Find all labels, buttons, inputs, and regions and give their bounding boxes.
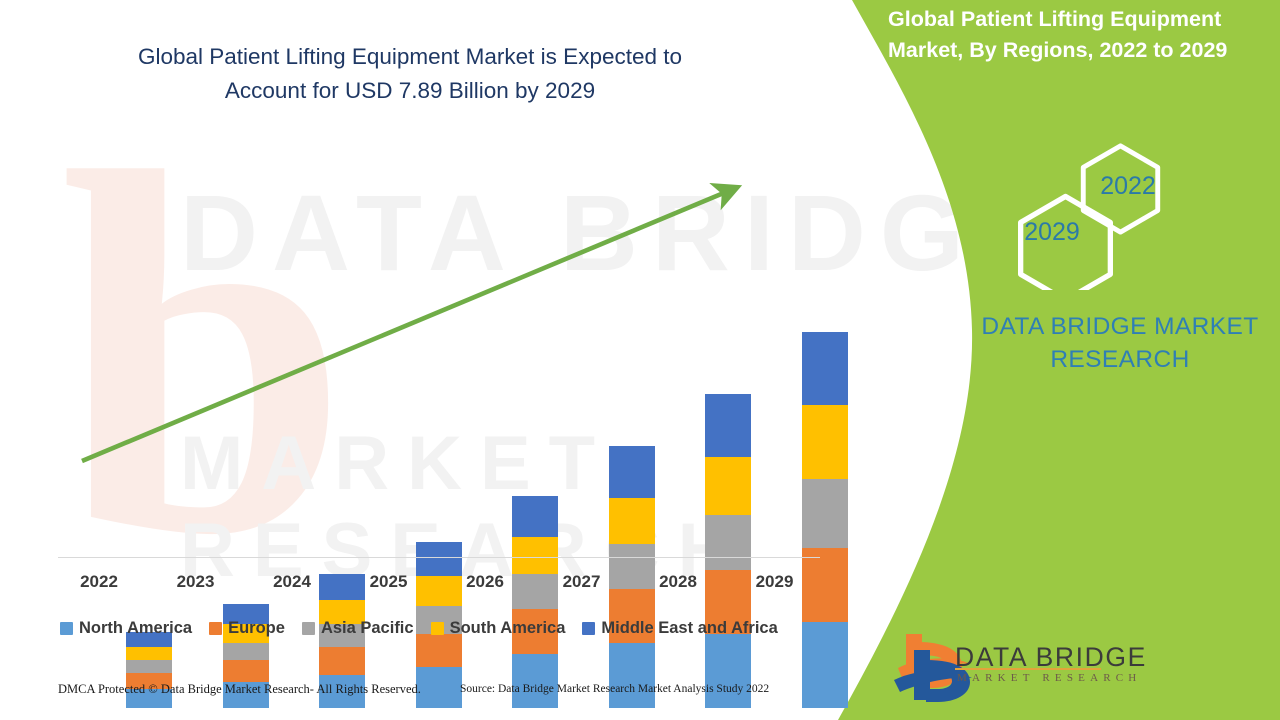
chart-x-label: 2028 <box>643 572 713 592</box>
chart-bar-segment <box>705 457 751 515</box>
legend-swatch <box>60 622 73 635</box>
chart-bar-segment <box>609 446 655 498</box>
legend-label: Europe <box>228 619 285 638</box>
footer-source: Source: Data Bridge Market Research Mark… <box>460 683 769 695</box>
chart-bar-segment <box>223 660 269 682</box>
legend-swatch <box>302 622 315 635</box>
hexagon-pair-graphic <box>985 140 1195 290</box>
chart-bar-segment <box>705 515 751 571</box>
chart-x-label: 2024 <box>257 572 327 592</box>
chart-x-axis-labels: 20222023202420252026202720282029 <box>50 572 830 598</box>
chart-bar-segment <box>609 498 655 544</box>
legend-swatch <box>209 622 222 635</box>
hexagon-label-2029: 2029 <box>1020 218 1084 247</box>
chart-bar-segment <box>609 643 655 708</box>
chart-x-axis-line <box>58 557 820 558</box>
chart-bar <box>512 496 558 708</box>
chart-bar-segment <box>126 660 172 673</box>
chart-x-label: 2022 <box>64 572 134 592</box>
stacked-bar-chart <box>50 150 830 560</box>
chart-bar-segment <box>705 634 751 708</box>
footer-copyright: DMCA Protected © Data Bridge Market Rese… <box>58 682 421 697</box>
chart-bar <box>802 332 848 708</box>
infographic-canvas: b DATA BRIDGE MARKET RESEARCH Global Pat… <box>0 0 1280 720</box>
legend-label: South America <box>450 619 566 638</box>
legend-item[interactable]: Middle East and Africa <box>582 619 777 638</box>
chart-bar <box>705 394 751 708</box>
chart-bar-segment <box>802 405 848 479</box>
chart-x-label: 2026 <box>450 572 520 592</box>
legend-item[interactable]: North America <box>60 619 192 638</box>
legend-item[interactable]: Asia Pacific <box>302 619 414 638</box>
chart-bar-segment <box>512 654 558 708</box>
chart-bar-segment <box>223 643 269 660</box>
legend-item[interactable]: South America <box>431 619 566 638</box>
chart-bars-area <box>100 300 880 708</box>
chart-bar-segment <box>802 332 848 405</box>
chart-x-label: 2025 <box>354 572 424 592</box>
chart-bar-segment <box>512 496 558 537</box>
chart-bar-segment <box>416 542 462 575</box>
chart-bar-segment <box>802 479 848 548</box>
legend-label: Middle East and Africa <box>601 619 777 638</box>
hexagon-label-2022: 2022 <box>1096 172 1160 201</box>
chart-bar-segment <box>126 647 172 660</box>
chart-bar-segment <box>416 667 462 708</box>
legend-swatch <box>582 622 595 635</box>
legend-label: North America <box>79 619 192 638</box>
panel-title: Global Patient Lifting Equipment Market,… <box>888 4 1266 66</box>
legend-swatch <box>431 622 444 635</box>
chart-legend: North AmericaEuropeAsia PacificSouth Ame… <box>60 616 830 640</box>
legend-item[interactable]: Europe <box>209 619 285 638</box>
chart-bar-segment <box>705 394 751 457</box>
legend-label: Asia Pacific <box>321 619 414 638</box>
chart-bar-segment <box>319 647 365 675</box>
logo-divider <box>955 668 1101 670</box>
chart-x-label: 2027 <box>547 572 617 592</box>
logo-tagline: MARKET RESEARCH <box>957 672 1141 684</box>
brand-name: DATA BRIDGE MARKET RESEARCH <box>950 310 1280 376</box>
chart-x-label: 2023 <box>161 572 231 592</box>
chart-bar-segment <box>512 537 558 574</box>
page-title: Global Patient Lifting Equipment Market … <box>95 40 725 108</box>
chart-x-label: 2029 <box>740 572 810 592</box>
